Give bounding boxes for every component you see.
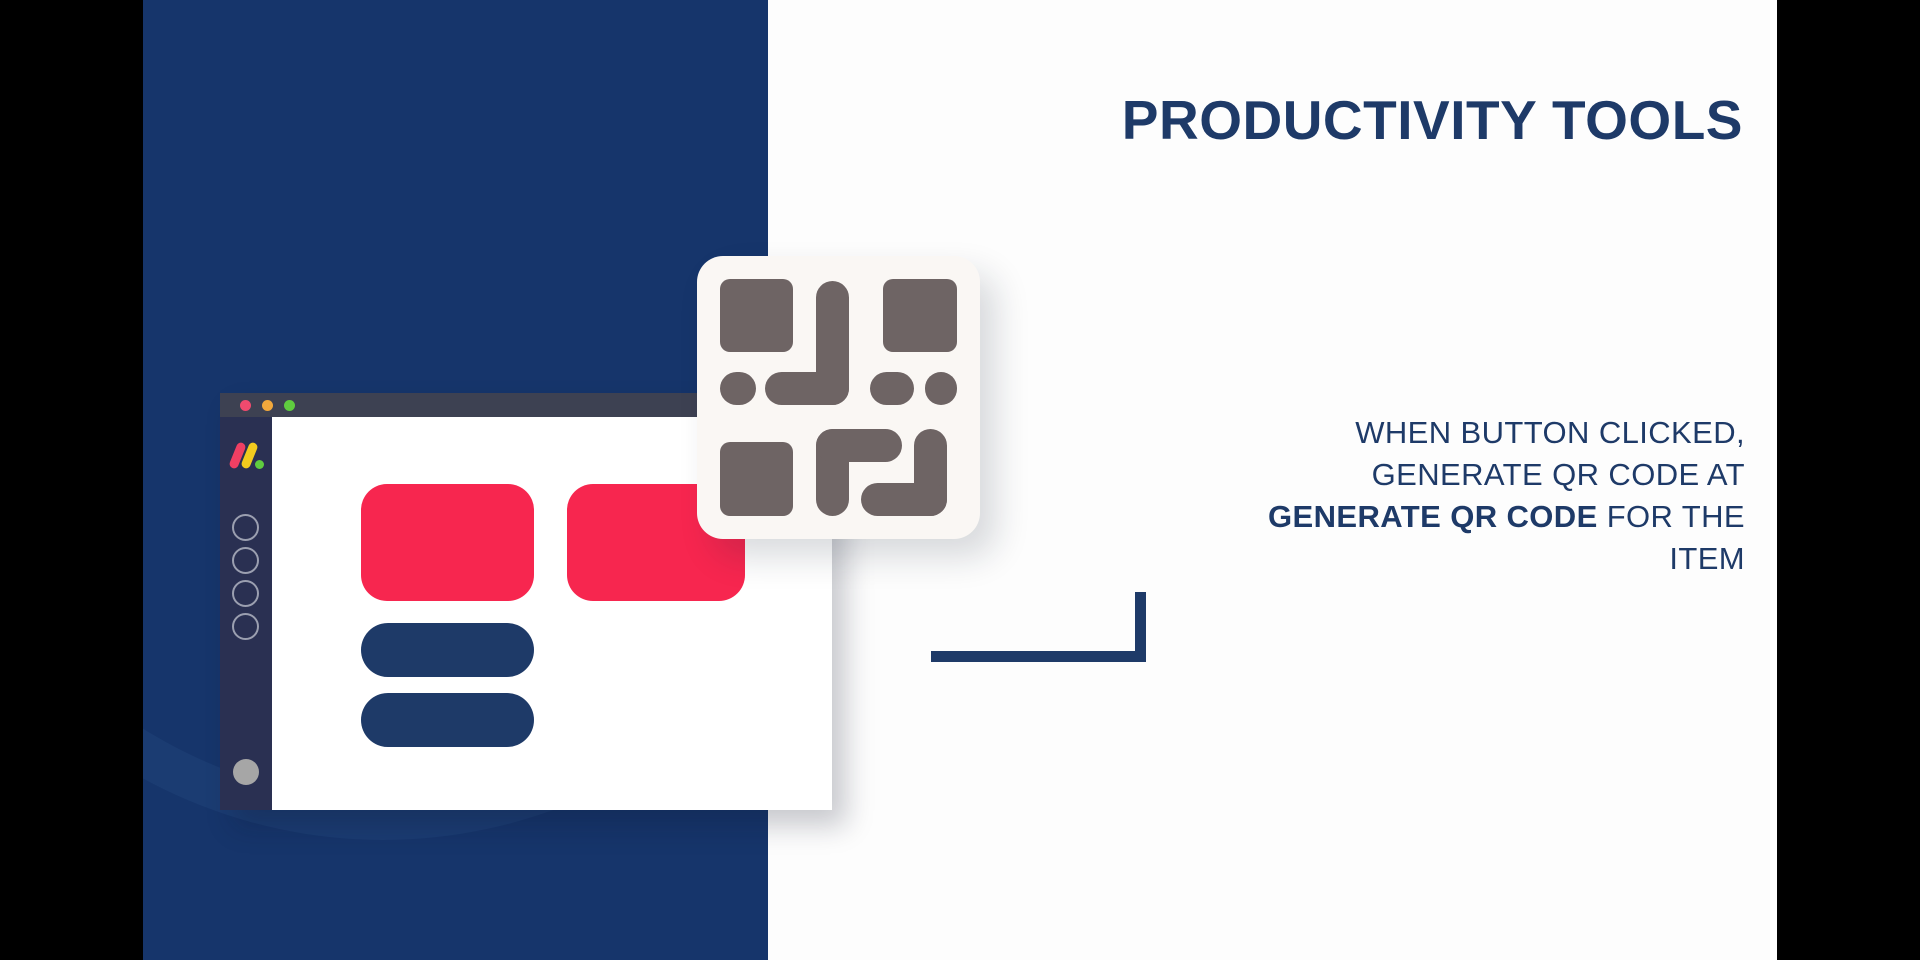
qr-finder-bottom-left-icon xyxy=(720,442,793,516)
minimize-dot-icon[interactable] xyxy=(262,400,273,411)
qr-horizontal-bar-icon xyxy=(765,372,849,405)
page-title: PRODUCTIVITY TOOLS xyxy=(843,92,1743,150)
red-card-primary[interactable] xyxy=(361,484,534,601)
slide-canvas: PRODUCTIVITY TOOLS WHEN BUTTON CLICKED, … xyxy=(143,0,1777,960)
sidebar-item-nav-1[interactable] xyxy=(232,514,259,541)
annotation-emphasis: GENERATE QR CODE xyxy=(1268,499,1598,534)
qr-dot-left-icon xyxy=(720,372,756,405)
slide-stage: PRODUCTIVITY TOOLS WHEN BUTTON CLICKED, … xyxy=(0,0,1920,960)
qr-finder-top-right-icon xyxy=(883,279,957,352)
logo-dot-green-icon xyxy=(255,460,264,469)
sidebar-item-nav-4[interactable] xyxy=(232,613,259,640)
annotation-line-2: GENERATE QR CODE AT xyxy=(1193,454,1745,496)
l-shaped-connector-line xyxy=(931,592,1146,662)
app-logo-icon xyxy=(231,442,264,470)
annotation-line-4: ITEM xyxy=(1193,538,1745,580)
qr-code-graphic xyxy=(720,279,957,516)
sidebar-item-nav-2[interactable] xyxy=(232,547,259,574)
connector-vertical-segment xyxy=(1135,592,1146,662)
sidebar-nav-list xyxy=(232,514,259,640)
navy-bar-1[interactable] xyxy=(361,623,534,677)
connector-horizontal-segment xyxy=(931,651,1146,662)
annotation-text: WHEN BUTTON CLICKED, GENERATE QR CODE AT… xyxy=(1193,412,1745,581)
qr-code-card xyxy=(697,256,980,539)
maximize-dot-icon[interactable] xyxy=(284,400,295,411)
annotation-line-3: GENERATE QR CODE FOR THE xyxy=(1193,496,1745,538)
qr-bottom-top-bar-icon xyxy=(816,429,902,462)
sidebar-item-nav-3[interactable] xyxy=(232,580,259,607)
close-dot-icon[interactable] xyxy=(240,400,251,411)
qr-bottom-right-bar-icon xyxy=(861,483,947,516)
browser-sidebar xyxy=(220,417,272,810)
annotation-line-1: WHEN BUTTON CLICKED, xyxy=(1193,412,1745,454)
qr-dot-far-right-icon xyxy=(925,372,957,405)
qr-pill-right-icon xyxy=(870,372,914,405)
navy-bar-2[interactable] xyxy=(361,693,534,747)
annotation-line-3-tail: FOR THE xyxy=(1598,499,1745,534)
avatar[interactable] xyxy=(233,759,259,785)
qr-finder-top-left-icon xyxy=(720,279,793,352)
